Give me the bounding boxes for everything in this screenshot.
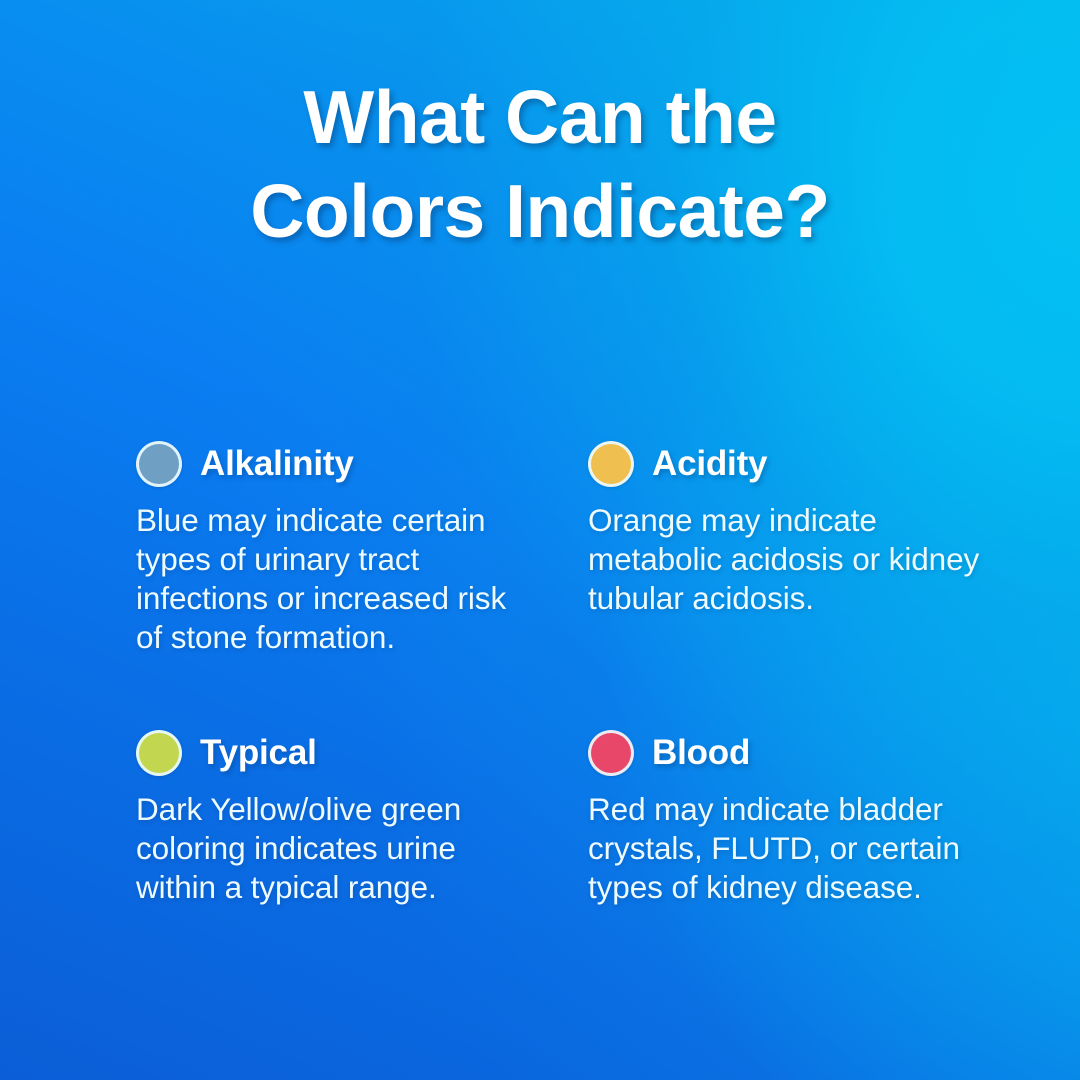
color-legend-list: Alkalinity Blue may indicate certain typ…	[136, 436, 1016, 907]
legend-item-description: Orange may indicate metabolic acidosis o…	[588, 501, 988, 618]
page-title-line-1: What Can the	[0, 70, 1080, 164]
color-swatch-circle-icon	[136, 441, 182, 487]
legend-item-description: Dark Yellow/olive green coloring indicat…	[136, 790, 536, 907]
legend-item-alkalinity: Alkalinity Blue may indicate certain typ…	[136, 436, 564, 657]
legend-item-header: Blood	[588, 725, 1016, 781]
legend-item-header: Alkalinity	[136, 436, 564, 492]
legend-item-description: Blue may indicate certain types of urina…	[136, 501, 536, 657]
color-swatch-circle-icon	[588, 441, 634, 487]
legend-item-acidity: Acidity Orange may indicate metabolic ac…	[588, 436, 1016, 657]
page-title-line-2: Colors Indicate?	[0, 164, 1080, 258]
infographic-card: What Can the Colors Indicate? Alkalinity…	[0, 0, 1080, 1080]
legend-item-label: Blood	[652, 733, 750, 773]
legend-item-header: Typical	[136, 725, 564, 781]
legend-item-label: Alkalinity	[200, 444, 354, 484]
legend-item-label: Acidity	[652, 444, 767, 484]
legend-item-header: Acidity	[588, 436, 1016, 492]
legend-item-blood: Blood Red may indicate bladder crystals,…	[588, 725, 1016, 907]
legend-item-typical: Typical Dark Yellow/olive green coloring…	[136, 725, 564, 907]
page-title: What Can the Colors Indicate?	[0, 70, 1080, 258]
color-swatch-circle-icon	[588, 730, 634, 776]
legend-item-description: Red may indicate bladder crystals, FLUTD…	[588, 790, 988, 907]
legend-item-label: Typical	[200, 733, 317, 773]
color-swatch-circle-icon	[136, 730, 182, 776]
